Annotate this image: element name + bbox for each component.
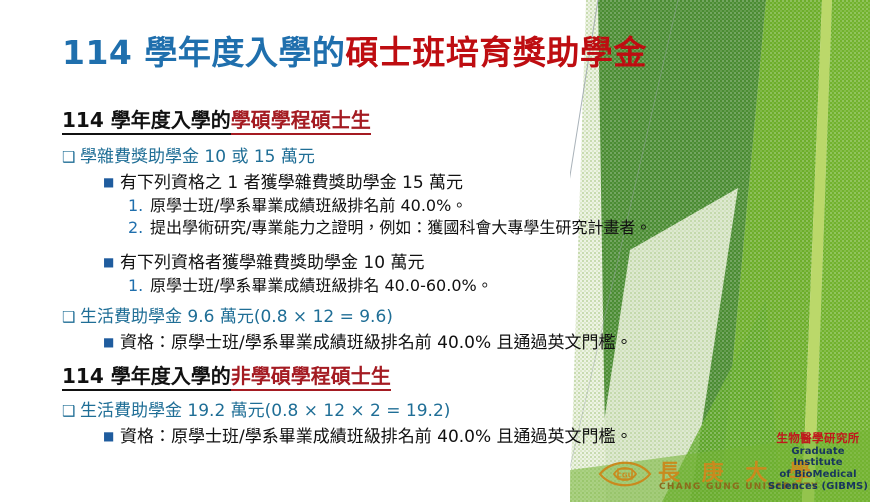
hollow-square-bullet-icon: ❑ [62,402,80,422]
institute-name-english-line2: of BioMedical [766,469,870,481]
gibms-institute-block: 生物醫學研究所 Graduate Institute of BioMedical… [766,432,870,493]
filled-square-bullet-icon: ■ [103,175,120,191]
numbered-item-2a: 1.原學士班/學系畢業成績班級排名 40.0-60.0%。 [128,276,493,297]
bullet-item-living-allowance-192: ❑生活費助學金 19.2 萬元(0.8 × 12 × 2 = 19.2) [62,400,450,422]
numbered-item-text: 提出學術研究/專業能力之證明，例如：獲國科會大專學生研究計畫者。 [150,218,651,237]
bullet-item-text: 資格：原學士班/學系畢業成績班級排名前 40.0% 且通過英文門檻。 [120,427,633,447]
slide-canvas: 114 學年度入學的碩士班培育獎助學金 114 學年度入學的學碩學程碩士生 ❑學… [0,0,870,502]
bullet-item-text: 生活費助學金 19.2 萬元(0.8 × 12 × 2 = 19.2) [80,401,450,421]
filled-square-bullet-icon: ■ [103,429,120,445]
numbered-item-text: 原學士班/學系畢業成績班級排名前 40.0%。 [150,196,467,215]
section-2-heading-red: 非學碩學程碩士生 [231,364,391,391]
bullet-item-qualify-15: ■有下列資格之 1 者獲學雜費獎助學金 15 萬元 [103,172,463,194]
chang-gung-university-logo: CGU 長 庚 大 學 CHANG GUNG UNIVERSITY [596,455,776,499]
numbered-item-text: 原學士班/學系畢業成績班級排名 40.0-60.0%。 [150,276,493,295]
bullet-item-qualify-10: ■有下列資格者獲學雜費獎助學金 10 萬元 [103,252,424,274]
title-red-text: 碩士班培育獎助學金 [345,33,647,72]
section-2-heading-dark: 114 學年度入學的 [62,364,231,391]
section-1-heading-dark: 114 學年度入學的 [62,108,231,135]
list-number: 1. [128,196,150,217]
numbered-item-1b: 2.提出學術研究/專業能力之證明，例如：獲國科會大專學生研究計畫者。 [128,218,651,239]
list-number: 1. [128,276,150,297]
bullet-item-tuition-award: ❑學雜費獎助學金 10 或 15 萬元 [62,146,315,168]
bullet-item-text: 有下列資格者獲學雜費獎助學金 10 萬元 [120,253,424,273]
institute-name-chinese: 生物醫學研究所 [766,432,870,446]
list-number: 2. [128,218,150,239]
filled-square-bullet-icon: ■ [103,255,120,271]
section-1-heading-red: 學碩學程碩士生 [231,108,371,135]
section-heading-2: 114 學年度入學的非學碩學程碩士生 [62,364,391,389]
bullet-item-living-qualify-192: ■資格：原學士班/學系畢業成績班級排名前 40.0% 且通過英文門檻。 [103,426,633,448]
bullet-item-text: 有下列資格之 1 者獲學雜費獎助學金 15 萬元 [120,173,463,193]
cgu-mark-text: CGU [617,472,634,480]
hollow-square-bullet-icon: ❑ [62,148,80,168]
bullet-item-text: 資格：原學士班/學系畢業成績班級排名前 40.0% 且通過英文門檻。 [120,333,633,353]
filled-square-bullet-icon: ■ [103,335,120,351]
cgu-emblem-icon: CGU [596,457,654,491]
slide-title: 114 學年度入學的碩士班培育獎助學金 [62,33,647,73]
institute-name-english-line1: Graduate Institute [766,446,870,470]
bullet-item-text: 生活費助學金 9.6 萬元(0.8 × 12 = 9.6) [80,307,393,327]
bullet-item-living-qualify-96: ■資格：原學士班/學系畢業成績班級排名前 40.0% 且通過英文門檻。 [103,332,633,354]
section-heading-1: 114 學年度入學的學碩學程碩士生 [62,108,371,133]
bullet-item-text: 學雜費獎助學金 10 或 15 萬元 [80,147,315,167]
institute-name-english-line3: Sciences (GIBMS) [766,481,870,493]
title-blue-text: 114 學年度入學的 [62,33,345,72]
bullet-item-living-allowance-96: ❑生活費助學金 9.6 萬元(0.8 × 12 = 9.6) [62,306,393,328]
hollow-square-bullet-icon: ❑ [62,308,80,328]
numbered-item-1a: 1.原學士班/學系畢業成績班級排名前 40.0%。 [128,196,467,217]
